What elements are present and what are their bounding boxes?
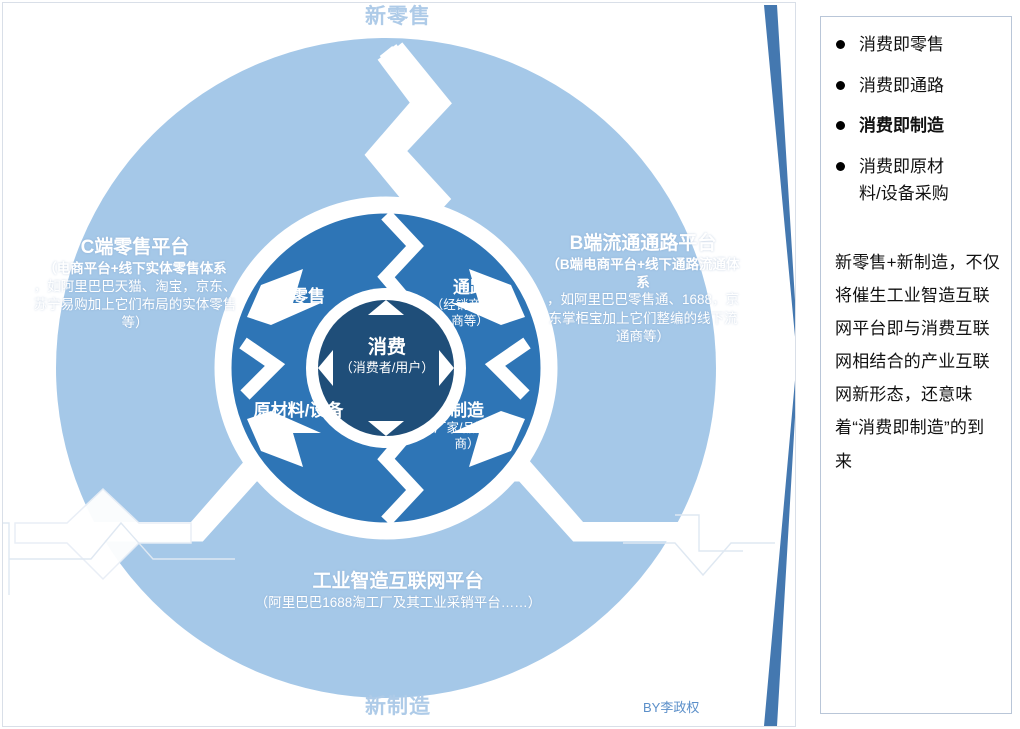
list-item: 消费即通路 xyxy=(829,72,1001,100)
diagram-panel: 新零售 新制造 BY李政权 C端零售平台 （电商平台+线下实体零售体系 ，如阿里… xyxy=(2,2,796,727)
label-new-retail: 新零售 xyxy=(288,5,508,30)
label-new-manufacturing: 新制造 xyxy=(288,695,508,720)
center-hub-sub: （消费者/用户） xyxy=(320,360,454,376)
wheel-segment-title: 零售 xyxy=(258,287,358,307)
bullet-dot-icon xyxy=(836,40,845,49)
wheel-segment-title: 制造 xyxy=(421,401,513,421)
summary-paragraph: 新零售+新制造，不仅将催生工业智造互联网平台即与消费互联网相结合的产业互联网新形… xyxy=(829,246,1001,478)
right-text-panel: 消费即零售 消费即通路 消费即制造 消费即原材 料/设备采购 新零售+新制造，不… xyxy=(820,16,1012,714)
outer-segment-sub-light: ，如阿里巴巴零售通、1688，京东掌柜宝加上它们整编的线下流通商等） xyxy=(543,291,743,345)
author-signature: BY李政权 xyxy=(643,697,773,716)
list-item-label: 消费即制造 xyxy=(859,116,944,135)
list-item-label-continuation: 料/设备采购 xyxy=(859,180,1001,208)
list-item-label: 消费即零售 xyxy=(859,35,944,54)
wheel-segment-sub: （厂家/品牌运营商） xyxy=(421,421,513,452)
outer-segment-industrial-internet: 工业智造互联网平台 （阿里巴巴1688淘工厂及其工业采销平台……） xyxy=(243,571,553,612)
bullet-dot-icon xyxy=(836,162,845,171)
list-item-label: 消费即通路 xyxy=(859,76,944,95)
wheel-segment-raw-material: 原材料/设备 xyxy=(246,401,351,421)
outer-segment-c-end-retail: C端零售平台 （电商平台+线下实体零售体系 ，如阿里巴巴天猫、淘宝，京东、苏宁易… xyxy=(29,237,241,332)
bullet-list: 消费即零售 消费即通路 消费即制造 消费即原材 料/设备采购 xyxy=(829,31,1001,208)
outer-segment-sub-light: （阿里巴巴1688淘工厂及其工业采销平台……） xyxy=(243,594,553,612)
center-hub-title: 消费 xyxy=(320,337,454,360)
list-item: 消费即制造 xyxy=(829,112,1001,140)
wheel-segment-title: 通路 xyxy=(425,278,515,298)
bullet-dot-icon xyxy=(836,121,845,130)
wheel-segment-title: 原材料/设备 xyxy=(246,401,351,421)
wheel-segment-manufacture: 制造 （厂家/品牌运营商） xyxy=(421,401,513,453)
center-hub-label: 消费 （消费者/用户） xyxy=(320,337,454,375)
bullet-dot-icon xyxy=(836,81,845,90)
outer-segment-title: B端流通通路平台 xyxy=(543,233,743,256)
wheel-segment-retail: 零售 xyxy=(258,287,358,307)
wheel-segment-channel: 通路 （经销商/批发商等） xyxy=(425,278,515,330)
outer-segment-title: 工业智造互联网平台 xyxy=(243,571,553,594)
screenshot-canvas: 新零售 新制造 BY李政权 C端零售平台 （电商平台+线下实体零售体系 ，如阿里… xyxy=(0,0,1020,729)
outer-segment-title: C端零售平台 xyxy=(29,237,241,260)
outer-segment-sub-bold: （B端电商平台+线下通路流通体系 xyxy=(543,256,743,292)
outer-segment-sub-light: ，如阿里巴巴天猫、淘宝，京东、苏宁易购加上它们布局的实体零售等） xyxy=(29,278,241,332)
outer-segment-sub-bold: （电商平台+线下实体零售体系 xyxy=(29,260,241,278)
wheel-segment-sub: （经销商/批发商等） xyxy=(425,298,515,329)
list-item: 消费即零售 xyxy=(829,31,1001,59)
list-item: 消费即原材 料/设备采购 xyxy=(829,153,1001,208)
outer-segment-b-end-circulation: B端流通通路平台 （B端电商平台+线下通路流通体系 ，如阿里巴巴零售通、1688… xyxy=(543,233,743,346)
list-item-label: 消费即原材 xyxy=(859,157,944,176)
right-arrow-shape xyxy=(764,5,796,726)
